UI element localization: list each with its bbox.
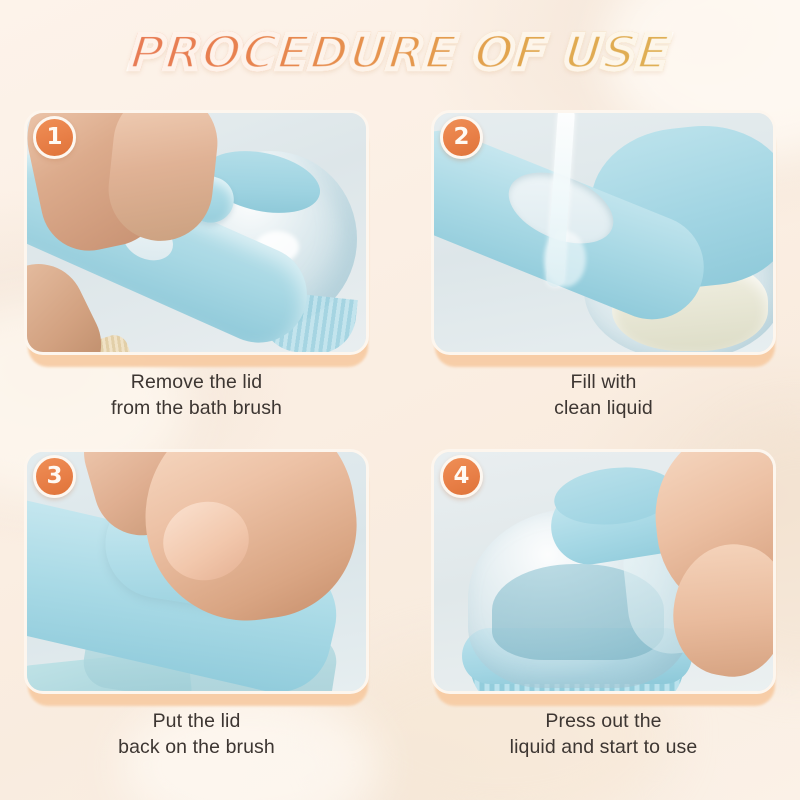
- step-photo-2: [434, 113, 773, 352]
- step-caption: Fill with clean liquid: [431, 369, 776, 421]
- page-title: PROCEDURE OF USE: [0, 26, 800, 81]
- step-card: 3: [24, 449, 369, 694]
- infographic-page: PROCEDURE OF USE: [0, 0, 800, 800]
- step-photo-frame: [431, 110, 776, 355]
- step-item: 2 Fill with clean liquid: [431, 110, 776, 421]
- step-number-badge: 3: [33, 455, 76, 498]
- step-item: 1 Remove the lid from the bath brush: [24, 110, 369, 421]
- steps-grid: 1 Remove the lid from the bath brush: [0, 110, 800, 761]
- step-card: 2: [431, 110, 776, 355]
- step-photo-3: [27, 452, 366, 691]
- step-number-badge: 1: [33, 116, 76, 159]
- step-item: 4 Press out the liquid and start to use: [431, 449, 776, 760]
- step-photo-frame: [24, 110, 369, 355]
- step-number-badge: 2: [440, 116, 483, 159]
- step-number-badge: 4: [440, 455, 483, 498]
- step-caption: Put the lid back on the brush: [24, 708, 369, 760]
- step-caption: Remove the lid from the bath brush: [24, 369, 369, 421]
- step-photo-1: [27, 113, 366, 352]
- step-card: 4: [431, 449, 776, 694]
- step-item: 3 Put the lid back on the brush: [24, 449, 369, 760]
- step-card: 1: [24, 110, 369, 355]
- page-title-text: PROCEDURE OF USE: [127, 26, 672, 81]
- step-photo-frame: [431, 449, 776, 694]
- step-photo-frame: [24, 449, 369, 694]
- step-photo-4: [434, 452, 773, 691]
- step-caption: Press out the liquid and start to use: [431, 708, 776, 760]
